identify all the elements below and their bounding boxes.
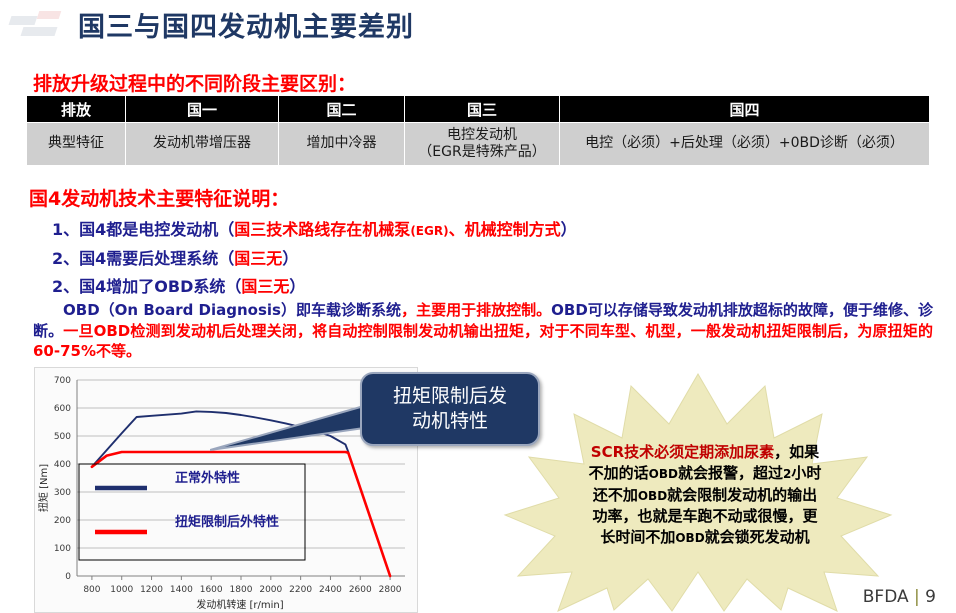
footer-brand: BFDA [863,587,909,607]
list-item-number: 2、 [52,277,79,296]
table-header-guo1: 国一 [126,96,279,123]
chart-xtick-label: 1600 [200,585,223,595]
chart-xtick-label: 2200 [289,585,312,595]
cell-guo4-feature: 电控（必须）+后处理（必须）+0BD诊断（必须） [560,123,930,166]
obd-description-paragraph: OBD（On Board Diagnosis）即车载诊断系统，主要用于排放控制。… [33,300,933,362]
table-header-guo4: 国四 [560,96,930,123]
chart-ytick-label: 600 [54,404,71,414]
chart-xtick-label: 2800 [379,585,402,595]
list-item-text: 国4增加了OBD系统 [79,277,225,296]
section-heading-differences: 排放升级过程中的不同阶段主要区别： [33,69,356,96]
chart-xtick-label: 1400 [170,585,193,595]
list-item-emphasis-tail: 、机械控制方式 [449,220,561,239]
paren-close: ） [282,249,298,268]
scr-line2-b: 就会报警，超过 [678,464,783,482]
scr-line2-obd: OBD [649,467,678,481]
brand-logo-watermark [8,6,70,48]
chart-series-limited [92,452,390,576]
footer-page-number: 9 [925,587,936,607]
obd-para-seg4: 一旦OBD检测到发动机后处理关闭，将自动控制限制发动机输出扭矩，对于不同车型、机… [33,322,933,361]
chart-xtick-label: 800 [83,585,100,595]
chart-ylabel: 扭矩 [Nm] [37,464,50,512]
chart-xtick-label: 1200 [140,585,163,595]
chart-xtick-label: 1000 [110,585,133,595]
cell-guo2-feature: 增加中冷器 [279,123,405,166]
list-item-text: 国4需要后处理系统 [79,249,218,268]
scr-line4: 功率，也就是车跑不动或很慢，更 [592,507,817,525]
paren-open: （ [218,249,234,268]
scr-warning-emphasis: SCR技术必须定期添加尿素 [591,443,774,461]
list-item-emphasis: 国三技术路线存在机械泵 [234,220,410,239]
cell-feature-label: 典型特征 [27,123,126,166]
paren-open: （ [218,220,234,239]
list-item-number: 1、 [52,220,79,239]
legend-label-limited: 扭矩限制后外特性 [175,514,279,530]
chart-ytick-label: 200 [54,516,71,526]
list-item: 1、国4都是电控发动机（国三技术路线存在机械泵(EGR)、机械控制方式） [52,216,577,240]
table-header-guo2: 国二 [279,96,405,123]
table-row: 典型特征 发动机带增压器 增加中冷器 电控发动机 （EGR是特殊产品） 电控（必… [27,123,930,166]
section-heading-guo4-features: 国4发动机技术主要特征说明： [29,184,289,211]
scr-line2-a: 不加的话 [589,464,649,482]
page-title: 国三与国四发动机主要差别 [78,5,414,44]
chart-ytick-label: 700 [54,376,71,386]
scr-line5-b: 就会锁死发动机 [705,528,810,546]
list-item: 2、国4需要后处理系统（国三无） [52,245,298,269]
obd-para-seg2: ，主要用于排放控制。 [401,301,551,319]
chart-ytick-label: 400 [54,460,71,470]
table-header-guo3: 国三 [405,96,560,123]
footer-separator: | [914,587,920,607]
scr-line5-obd: OBD [675,531,704,545]
list-item-emphasis: 国三无 [241,277,289,296]
scr-line3-a: 还不加 [593,486,638,504]
table-header-emission: 排放 [27,96,126,123]
chart-xtick-label: 1800 [230,585,253,595]
callout-tail [210,398,380,458]
scr-line2-c: 小时 [791,464,821,482]
list-item-text: 国4都是电控发动机 [79,220,218,239]
paren-open: （ [225,277,241,296]
scr-line3-obd: OBD [638,489,667,503]
obd-para-seg1: OBD（On Board Diagnosis）即车载诊断系统 [33,301,401,319]
chart-ytick-label: 0 [65,572,71,582]
cell-guo3-line1: 电控发动机 [447,127,517,143]
list-item-number: 2、 [52,249,79,268]
table-header-row: 排放 国一 国二 国三 国四 [27,96,930,123]
chart-ytick-label: 300 [54,488,71,498]
scr-line1-rest: ，如果 [774,443,819,461]
callout-line2: 动机特性 [412,410,488,432]
callout-torque-limited: 扭矩限制后发 动机特性 [360,372,540,446]
slide-footer: BFDA | 9 [863,587,936,607]
chart-xtick-label: 2600 [349,585,372,595]
chart-xtick-label: 2400 [319,585,342,595]
paren-close: ） [289,277,305,296]
starburst-text: SCR技术必须定期添加尿素，如果 不加的话OBD就会报警，超过2小时 还不加OB… [560,442,850,548]
list-item: 2、国4增加了OBD系统（国三无） [52,273,305,297]
list-item-emphasis: 国三无 [234,249,282,268]
paren-close: ） [561,220,577,239]
emission-stage-table: 排放 国一 国二 国三 国四 典型特征 发动机带增压器 增加中冷器 电控发动机 … [26,95,930,166]
chart-xlabel: 发动机转速 [r/min] [196,598,283,611]
scr-line3-b: 就会限制发动机的输出 [667,486,817,504]
legend-label-normal: 正常外特性 [175,470,240,486]
chart-xtick-label: 2000 [259,585,282,595]
cell-guo3-feature: 电控发动机 （EGR是特殊产品） [405,123,560,166]
slide-root: 国三与国四发动机主要差别 排放升级过程中的不同阶段主要区别： 排放 国一 国二 … [0,0,956,613]
chart-ytick-label: 500 [54,432,71,442]
chart-ytick-label: 100 [54,544,71,554]
scr-line5-a: 长时间不加 [600,528,675,546]
callout-line1: 扭矩限制后发 [393,385,507,407]
cell-guo3-line2: （EGR是特殊产品） [418,144,545,160]
list-item-emphasis-small: (EGR) [410,224,448,238]
cell-guo1-feature: 发动机带增压器 [126,123,279,166]
